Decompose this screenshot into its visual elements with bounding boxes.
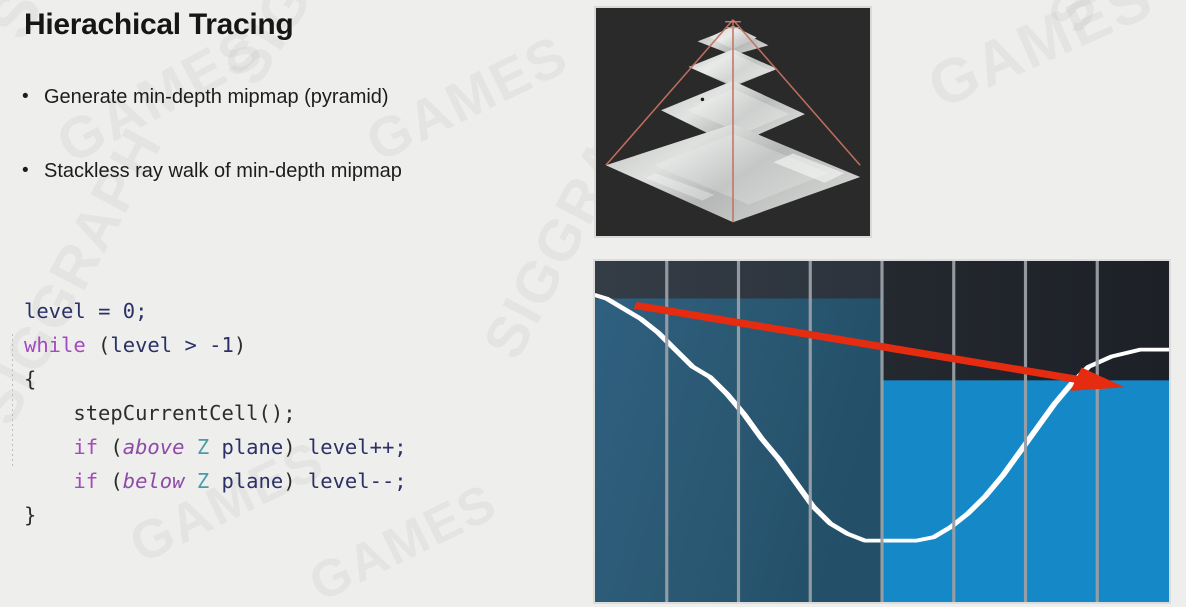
- code-token-type: Z: [197, 435, 209, 459]
- code-token-plain: [86, 299, 98, 323]
- code-token-var: level: [308, 469, 370, 493]
- code-token-fn: stepCurrentCell: [73, 401, 258, 425]
- watermark-text: GAMES: [918, 0, 1164, 123]
- code-block: level = 0;while (level > -1){ stepCurren…: [24, 294, 407, 532]
- code-line-0: level = 0;: [24, 294, 407, 328]
- code-line-2: {: [24, 362, 407, 396]
- code-token-brace: }: [24, 503, 36, 527]
- code-token-plain: [24, 401, 73, 425]
- code-token-var: plane: [209, 435, 283, 459]
- code-token-op: >: [184, 333, 196, 357]
- bullet-item-label: Generate min-depth mipmap (pyramid): [44, 84, 389, 110]
- code-indent-guide: [12, 334, 13, 466]
- code-token-var: level: [308, 435, 370, 459]
- code-token-plain: [172, 333, 184, 357]
- code-token-kw: if: [73, 435, 98, 459]
- code-token-brace: (: [86, 333, 111, 357]
- code-token-kw: while: [24, 333, 86, 357]
- code-token-kw: if: [73, 469, 98, 493]
- code-token-op: ;: [135, 299, 147, 323]
- ray-walk-figure: [593, 259, 1171, 604]
- code-token-plain: [24, 469, 73, 493]
- code-token-op: =: [98, 299, 110, 323]
- code-line-5: if (below Z plane) level--;: [24, 464, 407, 498]
- code-token-num: -1: [209, 333, 234, 357]
- code-token-var: plane: [209, 469, 283, 493]
- code-token-plain: [110, 299, 122, 323]
- code-token-plain: [197, 333, 209, 357]
- code-token-brace: ): [283, 469, 295, 493]
- code-token-plain: [184, 469, 196, 493]
- code-token-brace: (: [98, 469, 123, 493]
- code-token-op: --;: [370, 469, 407, 493]
- bullet-item-label: Stackless ray walk of min-depth mipmap: [44, 158, 402, 184]
- bullet-list: •Generate min-depth mipmap (pyramid)•Sta…: [18, 84, 578, 232]
- code-line-4: if (above Z plane) level++;: [24, 430, 407, 464]
- code-token-plain: [24, 435, 73, 459]
- page-title: Hierachical Tracing: [24, 8, 293, 42]
- code-token-var: level: [24, 299, 86, 323]
- code-token-em: above: [123, 435, 185, 459]
- bullet-marker-icon: •: [18, 158, 44, 184]
- mipmap-pyramid-svg: [596, 8, 870, 236]
- code-token-op: ++;: [370, 435, 407, 459]
- bullet-item-0: •Generate min-depth mipmap (pyramid): [18, 84, 578, 110]
- watermark-text: SIGGRAPH: [1034, 0, 1186, 43]
- code-line-3: stepCurrentCell();: [24, 396, 407, 430]
- code-line-6: }: [24, 498, 407, 532]
- code-token-brace: ): [234, 333, 246, 357]
- code-token-brace: ();: [259, 401, 296, 425]
- slide-left-column: Hierachical Tracing •Generate min-depth …: [0, 0, 592, 607]
- bullet-marker-icon: •: [18, 84, 44, 110]
- code-token-num: 0: [123, 299, 135, 323]
- code-token-var: level: [110, 333, 172, 357]
- code-token-brace: {: [24, 367, 36, 391]
- code-token-plain: [184, 435, 196, 459]
- bullet-item-1: •Stackless ray walk of min-depth mipmap: [18, 158, 578, 184]
- code-token-type: Z: [197, 469, 209, 493]
- mipmap-pyramid-figure: [594, 6, 872, 238]
- code-token-brace: ): [283, 435, 295, 459]
- code-token-em: below: [123, 469, 185, 493]
- code-line-1: while (level > -1): [24, 328, 407, 362]
- ray-walk-svg: [595, 261, 1169, 602]
- code-token-plain: [296, 469, 308, 493]
- code-token-plain: [296, 435, 308, 459]
- code-token-brace: (: [98, 435, 123, 459]
